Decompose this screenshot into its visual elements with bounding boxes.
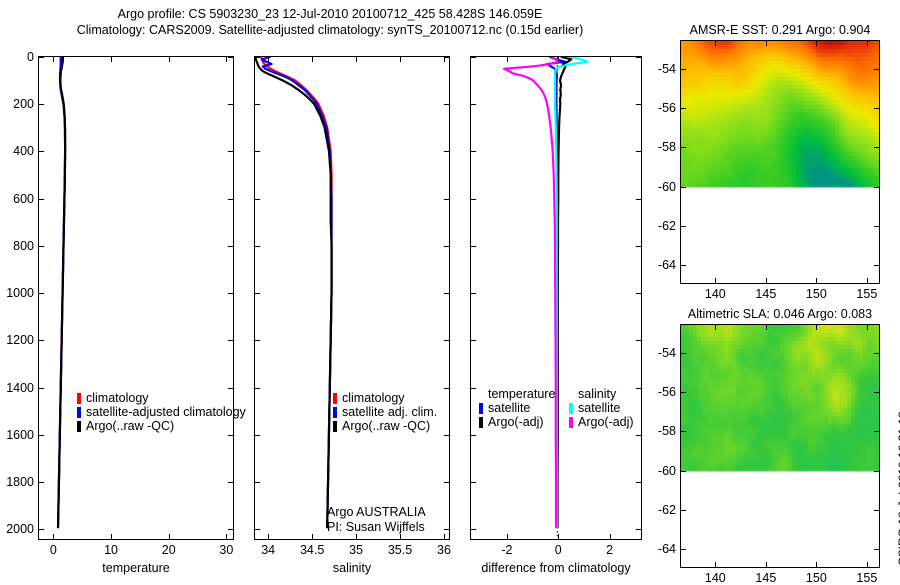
temperature-plot-area	[39, 57, 233, 539]
axis-tick	[255, 340, 260, 341]
difference-legend-salinity: salinity satellite Argo(-adj)	[569, 387, 634, 429]
axis-tick	[874, 549, 879, 550]
legend-label: satellite	[488, 401, 530, 415]
axis-tick	[610, 534, 611, 539]
axis-tick	[312, 534, 313, 539]
latitude-tick-label: -56	[658, 101, 676, 115]
axis-tick	[268, 57, 269, 62]
legend-swatch-temperature-satellite	[479, 403, 483, 414]
axis-tick	[681, 549, 686, 550]
axis-tick	[867, 278, 868, 283]
axis-tick	[356, 57, 357, 62]
legend-item: satellite	[479, 401, 555, 415]
legend-swatch-climatology	[333, 393, 337, 404]
x-tick-label: 0	[555, 543, 562, 557]
legend-item: satellite-adjusted climatology	[77, 405, 246, 419]
axis-tick	[558, 534, 559, 539]
axis-tick	[471, 104, 476, 105]
x-tick-label: 34	[261, 543, 275, 557]
axis-tick	[874, 226, 879, 227]
axis-tick	[471, 246, 476, 247]
legend-label: Argo(-adj)	[578, 415, 634, 429]
x-tick-label: 35	[349, 543, 363, 557]
axis-tick	[228, 482, 233, 483]
sst-raster	[681, 41, 879, 283]
axis-tick	[816, 562, 817, 567]
axis-tick	[471, 151, 476, 152]
axis-tick	[681, 471, 686, 472]
x-tick-label: -2	[501, 543, 512, 557]
difference-legend-temperature: temperature satellite Argo(-adj)	[479, 387, 555, 429]
axis-tick	[39, 435, 44, 436]
axis-tick	[444, 529, 449, 530]
axis-tick	[255, 482, 260, 483]
legend-group-title: salinity	[569, 387, 634, 401]
x-tick-label: 2	[606, 543, 613, 557]
axis-tick	[681, 108, 686, 109]
axis-tick	[507, 57, 508, 62]
legend-label: Argo(..raw -QC)	[342, 419, 430, 433]
axis-tick	[39, 340, 44, 341]
attribution-pi: PI: Susan Wijffels	[327, 520, 426, 535]
axis-tick	[39, 482, 44, 483]
axis-tick	[39, 388, 44, 389]
legend-label: satellite adj. clim.	[342, 405, 437, 419]
axis-tick	[228, 151, 233, 152]
axis-tick	[39, 529, 44, 530]
axis-tick	[636, 151, 641, 152]
axis-tick	[610, 57, 611, 62]
depth-tick-label: 0	[27, 50, 34, 64]
axis-tick	[715, 278, 716, 283]
legend-swatch-satellite	[333, 407, 337, 418]
axis-tick	[39, 57, 44, 58]
latitude-tick-label: -56	[658, 385, 676, 399]
axis-tick	[228, 435, 233, 436]
axis-tick	[255, 57, 260, 58]
axis-tick	[681, 147, 686, 148]
axis-tick	[255, 435, 260, 436]
sla-map-axes[interactable]: Altimetric SLA: 0.046 Argo: 0.083 -54-56…	[680, 324, 880, 568]
axis-tick	[874, 265, 879, 266]
axis-tick	[444, 246, 449, 247]
salinity-curves	[255, 57, 449, 539]
axis-tick	[867, 325, 868, 330]
axis-tick	[471, 482, 476, 483]
legend-label: climatology	[342, 391, 405, 405]
latitude-tick-label: -54	[658, 62, 676, 76]
x-tick-label: 34.5	[300, 543, 324, 557]
latitude-tick-label: -58	[658, 140, 676, 154]
axis-tick	[400, 57, 401, 62]
axis-tick	[766, 41, 767, 46]
axis-tick	[471, 340, 476, 341]
longitude-tick-label: 140	[705, 571, 726, 585]
axis-tick	[874, 108, 879, 109]
depth-tick-label: 2000	[6, 522, 34, 536]
axis-tick	[228, 199, 233, 200]
x-tick-label: 36	[437, 543, 451, 557]
difference-profile-axes[interactable]: -202 difference from climatology tempera…	[470, 56, 642, 540]
legend-swatch-salinity-satellite	[569, 403, 573, 414]
csiro-timestamp: CSIRO 18-Jul-2010 10:31:18	[896, 411, 900, 566]
longitude-tick-label: 145	[755, 287, 776, 301]
latitude-tick-label: -64	[658, 542, 676, 556]
figure-canvas: Argo profile: CS 5903230_23 12-Jul-2010 …	[0, 0, 900, 580]
axis-tick	[444, 151, 449, 152]
axis-tick	[681, 353, 686, 354]
axis-tick	[874, 353, 879, 354]
axis-tick	[228, 340, 233, 341]
axis-tick	[111, 57, 112, 62]
axis-tick	[39, 151, 44, 152]
latitude-tick-label: -60	[658, 180, 676, 194]
legend-swatch-argo	[333, 421, 337, 432]
axis-tick	[39, 246, 44, 247]
sst-map-area	[681, 41, 879, 283]
axis-tick	[53, 534, 54, 539]
legend-label: Argo(..raw -QC)	[86, 419, 174, 433]
axis-tick	[53, 57, 54, 62]
axis-tick	[636, 529, 641, 530]
longitude-tick-label: 155	[856, 287, 877, 301]
axis-tick	[471, 293, 476, 294]
axis-tick	[681, 265, 686, 266]
axis-tick	[874, 147, 879, 148]
axis-tick	[766, 562, 767, 567]
legend-label: satellite	[578, 401, 620, 415]
axis-tick	[681, 187, 686, 188]
axis-tick	[444, 293, 449, 294]
depth-tick-label: 1200	[6, 333, 34, 347]
legend-label: climatology	[86, 391, 149, 405]
x-tick-label: 35.5	[388, 543, 412, 557]
legend-group-title: temperature	[479, 387, 555, 401]
longitude-tick-label: 155	[856, 571, 877, 585]
latitude-tick-label: -60	[658, 464, 676, 478]
longitude-tick-label: 150	[806, 287, 827, 301]
latitude-tick-label: -58	[658, 424, 676, 438]
legend-swatch-argo	[77, 421, 81, 432]
axis-tick	[228, 388, 233, 389]
axis-tick	[226, 57, 227, 62]
axis-tick	[111, 534, 112, 539]
axis-tick	[255, 151, 260, 152]
axis-tick	[715, 562, 716, 567]
axis-tick	[816, 278, 817, 283]
salinity-profile-axes[interactable]: 3434.53535.536 salinity climatology sate…	[254, 56, 450, 540]
longitude-tick-label: 140	[705, 287, 726, 301]
latitude-tick-label: -54	[658, 346, 676, 360]
sla-raster	[681, 325, 879, 567]
axis-tick	[867, 41, 868, 46]
latitude-tick-label: -62	[658, 503, 676, 517]
axis-tick	[444, 388, 449, 389]
axis-tick	[444, 435, 449, 436]
temperature-legend: climatology satellite-adjusted climatolo…	[77, 391, 246, 433]
sla-map-title: Altimetric SLA: 0.046 Argo: 0.083	[688, 307, 872, 321]
difference-plot-area	[471, 57, 641, 539]
axis-tick	[312, 57, 313, 62]
legend-item: Argo(..raw -QC)	[77, 419, 246, 433]
axis-tick	[268, 534, 269, 539]
axis-tick	[874, 187, 879, 188]
axis-tick	[681, 510, 686, 511]
axis-tick	[681, 226, 686, 227]
axis-tick	[444, 57, 445, 62]
axis-tick	[681, 431, 686, 432]
axis-tick	[255, 529, 260, 530]
temperature-axis-title: temperature	[102, 561, 169, 575]
depth-tick-label: 600	[13, 192, 34, 206]
axis-tick	[228, 104, 233, 105]
sst-map-axes[interactable]: AMSR-E SST: 0.291 Argo: 0.904 -54-56-58-…	[680, 40, 880, 284]
longitude-tick-label: 150	[806, 571, 827, 585]
temperature-curves	[39, 57, 233, 539]
figure-title: Argo profile: CS 5903230_23 12-Jul-2010 …	[0, 6, 660, 38]
axis-tick	[471, 57, 476, 58]
depth-tick-label: 1800	[6, 475, 34, 489]
legend-item: satellite adj. clim.	[333, 405, 437, 419]
axis-tick	[255, 293, 260, 294]
axis-tick	[874, 431, 879, 432]
axis-tick	[169, 534, 170, 539]
axis-tick	[228, 293, 233, 294]
axis-tick	[507, 534, 508, 539]
axis-tick	[636, 340, 641, 341]
axis-tick	[255, 199, 260, 200]
axis-tick	[636, 246, 641, 247]
axis-tick	[636, 435, 641, 436]
x-tick-label: 10	[104, 543, 118, 557]
depth-tick-label: 1000	[6, 286, 34, 300]
depth-tick-label: 200	[13, 97, 34, 111]
difference-axis-title: difference from climatology	[481, 561, 630, 575]
figure-title-line1: Argo profile: CS 5903230_23 12-Jul-2010 …	[0, 6, 660, 22]
axis-tick	[867, 562, 868, 567]
axis-tick	[39, 199, 44, 200]
axis-tick	[39, 293, 44, 294]
x-tick-label: 30	[219, 543, 233, 557]
x-tick-label: 0	[50, 543, 57, 557]
axis-tick	[471, 388, 476, 389]
axis-tick	[874, 471, 879, 472]
figure-title-line2: Climatology: CARS2009. Satellite-adjuste…	[0, 22, 660, 38]
legend-swatch-climatology	[77, 393, 81, 404]
depth-tick-label: 1600	[6, 428, 34, 442]
axis-tick	[715, 325, 716, 330]
axis-tick	[169, 57, 170, 62]
longitude-tick-label: 145	[755, 571, 776, 585]
latitude-tick-label: -62	[658, 219, 676, 233]
axis-tick	[636, 199, 641, 200]
latitude-tick-label: -64	[658, 258, 676, 272]
legend-item: Argo(-adj)	[569, 415, 634, 429]
axis-tick	[636, 293, 641, 294]
difference-curves	[471, 57, 641, 539]
axis-tick	[444, 534, 445, 539]
legend-label: Argo(-adj)	[488, 415, 544, 429]
sla-map-area	[681, 325, 879, 567]
legend-item: satellite	[569, 401, 634, 415]
axis-tick	[636, 482, 641, 483]
legend-swatch-satellite	[77, 407, 81, 418]
axis-tick	[444, 482, 449, 483]
legend-swatch-salinity-argo	[569, 417, 573, 428]
legend-item: Argo(..raw -QC)	[333, 419, 437, 433]
axis-tick	[766, 278, 767, 283]
axis-tick	[226, 534, 227, 539]
attribution-block: Argo AUSTRALIA PI: Susan Wijffels	[327, 505, 426, 535]
axis-tick	[255, 104, 260, 105]
temperature-profile-axes[interactable]: 0200400600800100012001400160018002000010…	[38, 56, 234, 540]
salinity-legend: climatology satellite adj. clim. Argo(..…	[333, 391, 437, 433]
axis-tick	[444, 104, 449, 105]
depth-tick-label: 800	[13, 239, 34, 253]
axis-tick	[228, 57, 233, 58]
sst-map-title: AMSR-E SST: 0.291 Argo: 0.904	[690, 23, 871, 37]
legend-item: climatology	[77, 391, 246, 405]
axis-tick	[636, 57, 641, 58]
axis-tick	[39, 104, 44, 105]
axis-tick	[874, 69, 879, 70]
axis-tick	[816, 325, 817, 330]
legend-item: Argo(-adj)	[479, 415, 555, 429]
axis-tick	[681, 69, 686, 70]
legend-item: climatology	[333, 391, 437, 405]
axis-tick	[444, 199, 449, 200]
depth-tick-label: 1400	[6, 381, 34, 395]
axis-tick	[874, 510, 879, 511]
axis-tick	[255, 246, 260, 247]
axis-tick	[766, 325, 767, 330]
axis-tick	[636, 388, 641, 389]
axis-tick	[715, 41, 716, 46]
salinity-axis-title: salinity	[333, 561, 371, 575]
legend-label: satellite-adjusted climatology	[86, 405, 246, 419]
axis-tick	[255, 388, 260, 389]
axis-tick	[636, 104, 641, 105]
axis-tick	[471, 199, 476, 200]
axis-tick	[558, 57, 559, 62]
axis-tick	[471, 529, 476, 530]
axis-tick	[681, 392, 686, 393]
axis-tick	[228, 246, 233, 247]
axis-tick	[228, 529, 233, 530]
x-tick-label: 20	[162, 543, 176, 557]
attribution-program: Argo AUSTRALIA	[327, 505, 426, 520]
axis-tick	[444, 340, 449, 341]
axis-tick	[816, 41, 817, 46]
axis-tick	[874, 392, 879, 393]
legend-swatch-temperature-argo	[479, 417, 483, 428]
salinity-plot-area	[255, 57, 449, 539]
axis-tick	[471, 435, 476, 436]
depth-tick-label: 400	[13, 144, 34, 158]
